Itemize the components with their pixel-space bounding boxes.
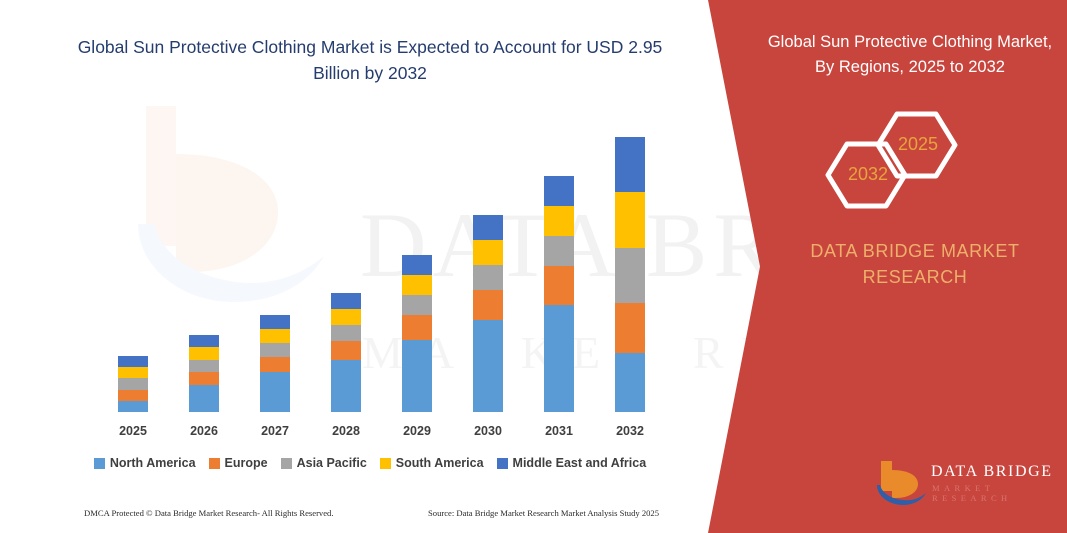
- bar-column-2028[interactable]: [331, 293, 361, 412]
- legend-item-europe[interactable]: Europe: [209, 456, 268, 470]
- left-chart-panel: Global Sun Protective Clothing Market is…: [0, 0, 740, 533]
- bar-segment-north-america-2029[interactable]: [402, 340, 432, 412]
- bar-segment-south-america-2026[interactable]: [189, 347, 219, 360]
- hexagon-group: 2025 2032: [805, 100, 1035, 210]
- bar-segment-asia-pacific-2032[interactable]: [615, 248, 645, 303]
- bar-segment-north-america-2030[interactable]: [473, 320, 503, 412]
- legend-item-middle-east-and-africa[interactable]: Middle East and Africa: [497, 456, 647, 470]
- bar-segment-north-america-2032[interactable]: [615, 353, 645, 412]
- bar-segment-europe-2026[interactable]: [189, 372, 219, 385]
- bar-segment-south-america-2030[interactable]: [473, 240, 503, 265]
- x-axis-label-2027: 2027: [245, 424, 305, 438]
- x-axis-label-2031: 2031: [529, 424, 589, 438]
- chart-legend: North AmericaEuropeAsia PacificSouth Ame…: [0, 456, 740, 470]
- bar-segment-south-america-2025[interactable]: [118, 367, 148, 378]
- bar-segment-middle-east-and-africa-2032[interactable]: [615, 137, 645, 192]
- bar-column-2029[interactable]: [402, 255, 432, 412]
- bar-segment-europe-2030[interactable]: [473, 290, 503, 320]
- bar-segment-middle-east-and-africa-2030[interactable]: [473, 215, 503, 240]
- bar-segment-europe-2025[interactable]: [118, 390, 148, 401]
- bar-segment-middle-east-and-africa-2026[interactable]: [189, 335, 219, 347]
- bar-column-2025[interactable]: [118, 356, 148, 412]
- x-axis-label-2026: 2026: [174, 424, 234, 438]
- footer-dmca-notice: DMCA Protected © Data Bridge Market Rese…: [84, 508, 334, 518]
- bar-column-2030[interactable]: [473, 215, 503, 412]
- hexagon-label-2032: 2032: [848, 164, 888, 185]
- logo-subtitle: MARKET RESEARCH: [932, 483, 1065, 503]
- bar-segment-europe-2032[interactable]: [615, 303, 645, 353]
- bar-segment-asia-pacific-2028[interactable]: [331, 325, 361, 341]
- x-axis-label-2029: 2029: [387, 424, 447, 438]
- bar-segment-north-america-2031[interactable]: [544, 305, 574, 412]
- bar-segment-north-america-2028[interactable]: [331, 360, 361, 412]
- bar-column-2026[interactable]: [189, 335, 219, 412]
- right-panel-title: Global Sun Protective Clothing Market, B…: [760, 30, 1060, 80]
- bar-segment-asia-pacific-2026[interactable]: [189, 360, 219, 372]
- legend-label: South America: [396, 456, 484, 470]
- bar-column-2031[interactable]: [544, 176, 574, 412]
- data-bridge-logo: DATA BRIDGE MARKET RESEARCH: [875, 455, 1065, 513]
- legend-swatch-icon: [380, 458, 391, 469]
- x-axis-label-2025: 2025: [103, 424, 163, 438]
- bar-segment-south-america-2032[interactable]: [615, 192, 645, 248]
- bar-segment-north-america-2027[interactable]: [260, 372, 290, 412]
- legend-swatch-icon: [209, 458, 220, 469]
- legend-label: Europe: [225, 456, 268, 470]
- legend-label: Middle East and Africa: [513, 456, 647, 470]
- x-axis-label-2028: 2028: [316, 424, 376, 438]
- bar-segment-europe-2029[interactable]: [402, 315, 432, 340]
- legend-swatch-icon: [281, 458, 292, 469]
- brand-name: DATA BRIDGE MARKET RESEARCH: [780, 238, 1050, 290]
- legend-item-south-america[interactable]: South America: [380, 456, 484, 470]
- bar-segment-middle-east-and-africa-2028[interactable]: [331, 293, 361, 309]
- data-bridge-b-logo-icon: [875, 459, 927, 507]
- bar-segment-asia-pacific-2025[interactable]: [118, 378, 148, 390]
- legend-swatch-icon: [94, 458, 105, 469]
- bar-segment-asia-pacific-2029[interactable]: [402, 295, 432, 315]
- bar-segment-south-america-2027[interactable]: [260, 329, 290, 343]
- legend-item-asia-pacific[interactable]: Asia Pacific: [281, 456, 367, 470]
- stacked-bar-chart-plot: [0, 0, 740, 533]
- bar-column-2032[interactable]: [615, 137, 645, 412]
- bar-segment-middle-east-and-africa-2025[interactable]: [118, 356, 148, 367]
- x-axis-label-2030: 2030: [458, 424, 518, 438]
- bar-segment-asia-pacific-2031[interactable]: [544, 236, 574, 266]
- hexagon-label-2025: 2025: [898, 134, 938, 155]
- bar-segment-middle-east-and-africa-2029[interactable]: [402, 255, 432, 275]
- logo-name: DATA BRIDGE: [931, 463, 1053, 481]
- bar-segment-asia-pacific-2027[interactable]: [260, 343, 290, 357]
- bar-segment-europe-2027[interactable]: [260, 357, 290, 372]
- right-red-panel: Global Sun Protective Clothing Market, B…: [700, 0, 1067, 533]
- bar-segment-south-america-2029[interactable]: [402, 275, 432, 295]
- bar-column-2027[interactable]: [260, 315, 290, 412]
- bar-segment-south-america-2028[interactable]: [331, 309, 361, 325]
- infographic-canvas: DATA BRIDGE MARKET RESEARCH Global Sun P…: [0, 0, 1067, 533]
- legend-item-north-america[interactable]: North America: [94, 456, 196, 470]
- bar-segment-north-america-2025[interactable]: [118, 401, 148, 412]
- legend-label: North America: [110, 456, 196, 470]
- hexagon-outlines-icon: [805, 100, 1035, 210]
- footer-source-note: Source: Data Bridge Market Research Mark…: [428, 508, 659, 518]
- bar-segment-asia-pacific-2030[interactable]: [473, 265, 503, 290]
- bar-segment-europe-2028[interactable]: [331, 341, 361, 360]
- bar-segment-middle-east-and-africa-2027[interactable]: [260, 315, 290, 329]
- bar-segment-north-america-2026[interactable]: [189, 385, 219, 412]
- bar-segment-europe-2031[interactable]: [544, 266, 574, 305]
- legend-swatch-icon: [497, 458, 508, 469]
- legend-label: Asia Pacific: [297, 456, 367, 470]
- x-axis-labels: 20252026202720282029203020312032: [0, 424, 740, 444]
- bar-segment-south-america-2031[interactable]: [544, 206, 574, 236]
- bar-segment-middle-east-and-africa-2031[interactable]: [544, 176, 574, 206]
- x-axis-label-2032: 2032: [600, 424, 660, 438]
